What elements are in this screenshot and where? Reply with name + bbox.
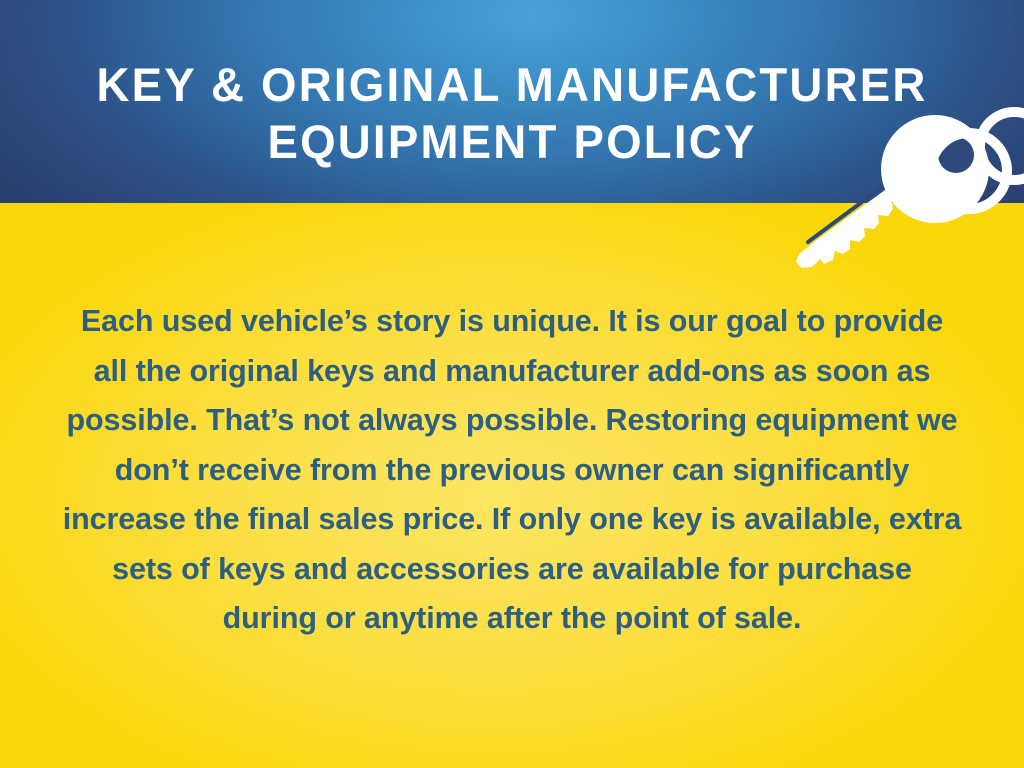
- policy-lead-sentence: Each used vehicle’s story is unique.: [81, 304, 600, 338]
- page-title: Key & Original Manufacturer Equipment Po…: [15, 56, 1008, 170]
- header-inner: Key & Original Manufacturer Equipment Po…: [0, 0, 1024, 203]
- policy-rest-text: It is our goal to provide all the origin…: [63, 304, 962, 635]
- body-band: Each used vehicle’s story is unique. It …: [0, 203, 1024, 768]
- header-band: Key & Original Manufacturer Equipment Po…: [0, 0, 1024, 203]
- policy-poster: Key & Original Manufacturer Equipment Po…: [0, 0, 1024, 768]
- policy-body-text: Each used vehicle’s story is unique. It …: [62, 297, 962, 644]
